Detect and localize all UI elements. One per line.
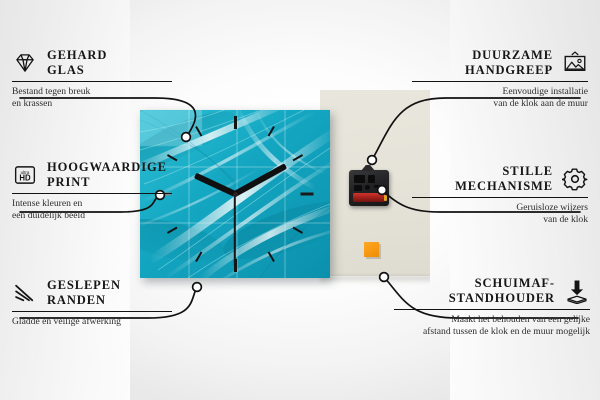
feature-stille-mechanisme: STILLE MECHANISME Geruisloze wijzers van… xyxy=(412,164,588,225)
feature-title: SCHUIMAF- STANDHOUDER xyxy=(449,276,555,305)
feature-duurzame-handgreep: DUURZAME HANDGREEP Eenvoudige installati… xyxy=(412,48,588,109)
divider xyxy=(12,311,172,312)
feature-desc: Intense kleuren en een duidelijk beeld xyxy=(12,198,172,221)
feature-desc: Gladde en veilige afwerking xyxy=(12,316,172,328)
feature-geslepen-randen: GESLEPEN RANDEN Gladde en veilige afwerk… xyxy=(12,278,172,328)
face-grid-line xyxy=(188,110,190,278)
feature-title: GEHARD GLAS xyxy=(47,48,107,77)
picture-frame-icon xyxy=(562,50,588,76)
divider xyxy=(394,309,590,310)
feature-gehard-glas: GEHARD GLAS Bestand tegen breuk en krass… xyxy=(12,48,172,109)
feature-desc: Maakt het behouden van een gelijke afsta… xyxy=(394,314,590,337)
quartz-movement xyxy=(349,170,389,206)
feature-desc: Eenvoudige installatie van de klok aan d… xyxy=(412,86,588,109)
feature-title: GESLEPEN RANDEN xyxy=(47,278,121,307)
infographic-canvas: GEHARD GLAS Bestand tegen breuk en krass… xyxy=(0,0,600,400)
aa-battery xyxy=(353,193,385,202)
second-hand xyxy=(234,194,236,266)
divider xyxy=(12,81,172,82)
ultra-hd-icon: ultra HD xyxy=(12,162,38,188)
download-stack-icon xyxy=(564,278,590,304)
diagonal-lines-icon xyxy=(12,280,38,306)
feature-hoogwaardige-print: ultra HD HOOGWAARDIGE PRINT Intense kleu… xyxy=(12,160,172,221)
feature-title: STILLE MECHANISME xyxy=(455,164,553,193)
feature-desc: Geruisloze wijzers van de klok xyxy=(412,202,588,225)
feature-desc: Bestand tegen breuk en krassen xyxy=(12,86,172,109)
foam-spacer xyxy=(364,242,379,257)
hand-hub xyxy=(233,192,238,197)
feature-title: DUURZAME HANDGREEP xyxy=(465,48,553,77)
diamond-icon xyxy=(12,50,38,76)
divider xyxy=(412,81,588,82)
product-photo xyxy=(130,90,430,290)
feature-schuimafstandhouder: SCHUIMAF- STANDHOUDER Maakt het behouden… xyxy=(394,276,590,337)
face-grid-line xyxy=(284,110,286,278)
divider xyxy=(412,197,588,198)
gear-icon xyxy=(562,166,588,192)
feature-title: HOOGWAARDIGE PRINT xyxy=(47,160,167,189)
svg-text:HD: HD xyxy=(19,173,31,182)
divider xyxy=(12,193,172,194)
